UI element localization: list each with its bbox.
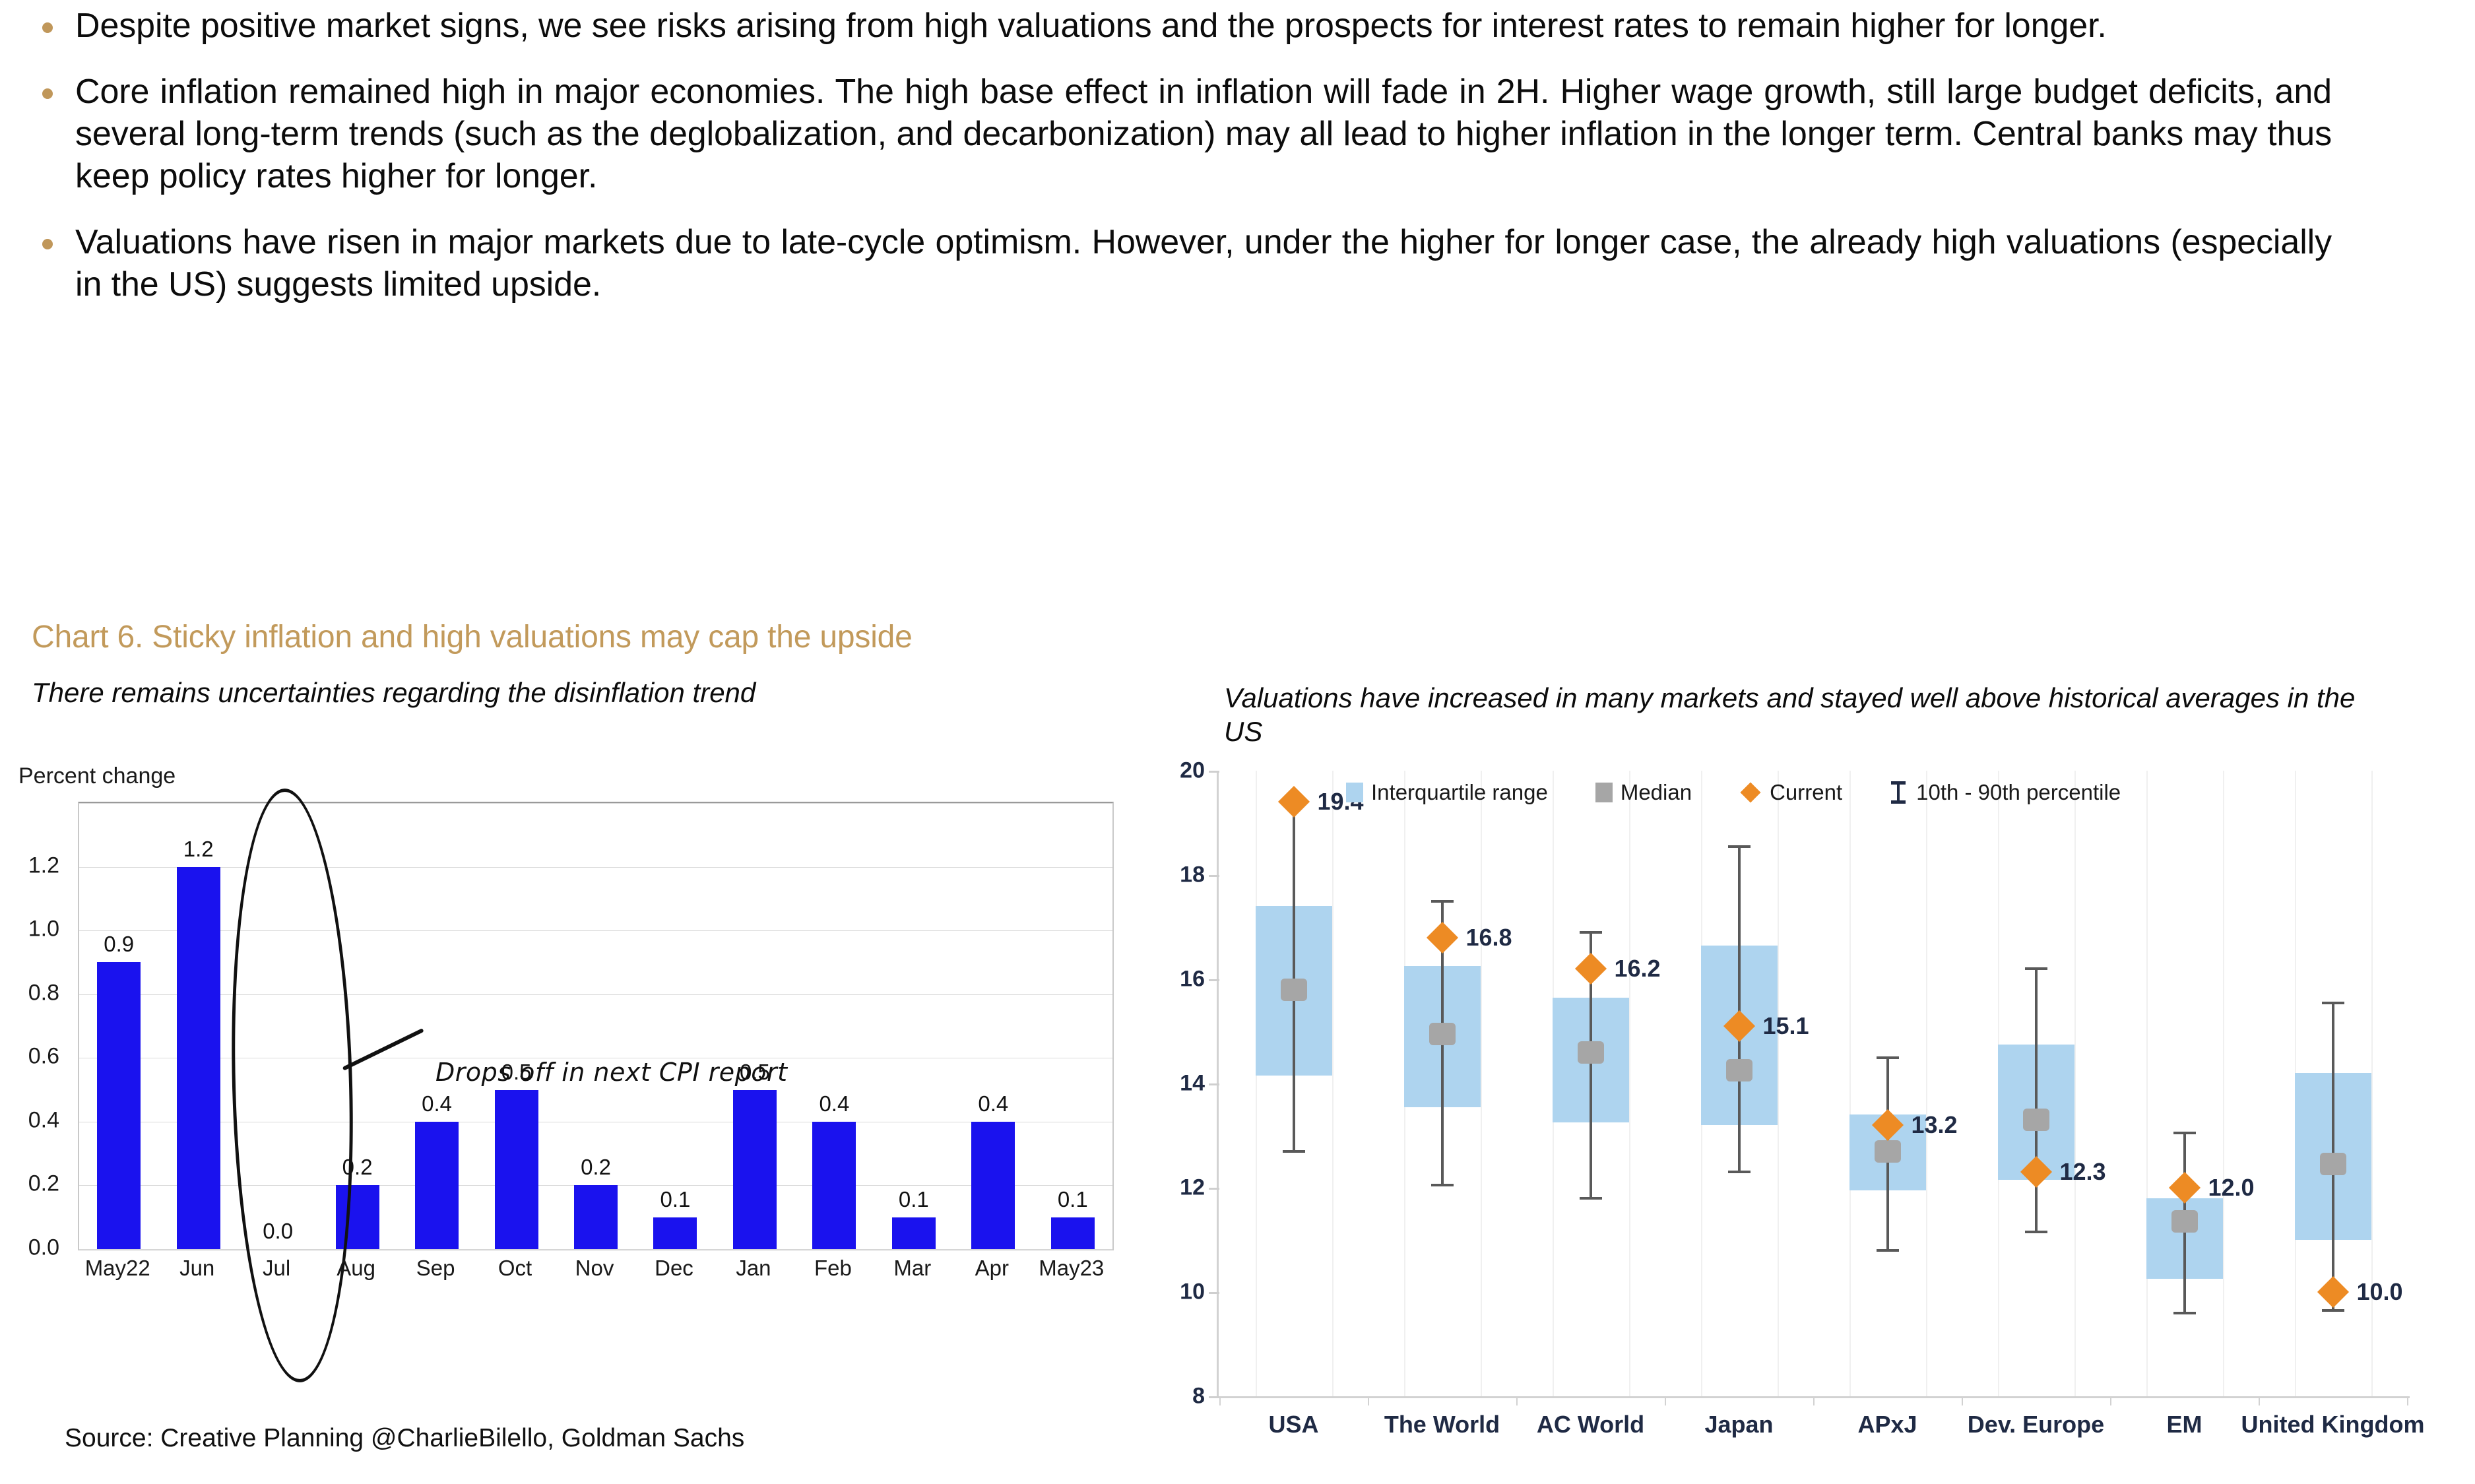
y-axis-tick-mark — [1209, 979, 1219, 981]
bullet-item: Despite positive market signs, we see ri… — [42, 5, 2391, 48]
y-axis-tick-label: 0.2 — [0, 1171, 59, 1197]
x-axis-tick-mark — [1665, 1396, 1666, 1405]
category-separator — [2223, 771, 2224, 1396]
right-chart-subtitle: Valuations have increased in many market… — [1224, 681, 2359, 748]
bullet-dot-icon — [42, 22, 53, 33]
y-axis-tick-mark — [1209, 1396, 1219, 1398]
right-chart-legend: Interquartile range Median Current 10th … — [1346, 780, 2168, 805]
table-row — [574, 1185, 618, 1249]
bar-value-label: 0.1 — [868, 1187, 960, 1212]
table-row — [97, 962, 141, 1249]
current-marker — [1574, 953, 1606, 984]
gridline — [79, 1249, 1112, 1250]
whisker-cap — [1877, 1056, 1899, 1059]
current-value-label: 12.0 — [2208, 1174, 2255, 1202]
valuation-box-chart: 8101214161820 19.416.816.215.113.212.312… — [1148, 765, 2468, 1465]
bullet-item: Valuations have risen in major markets d… — [42, 222, 2391, 306]
whisker-cap — [1728, 845, 1751, 848]
category-separator — [1926, 771, 1927, 1396]
table-row — [733, 1090, 777, 1249]
current-marker — [2317, 1276, 2348, 1308]
table-row — [415, 1122, 459, 1249]
highlight-ellipse-icon — [224, 787, 360, 1384]
percentile-whisker — [1738, 847, 1741, 1173]
iqr-swatch-icon — [1346, 783, 1363, 802]
legend-label: Current — [1770, 780, 1842, 805]
legend-item-percentile: 10th - 90th percentile — [1890, 780, 2121, 805]
bullet-text: Despite positive market signs, we see ri… — [75, 5, 2332, 48]
y-axis-tick-label: 14 — [1148, 1071, 1205, 1097]
category-separator — [2146, 771, 2148, 1396]
y-axis-tick-label: 12 — [1148, 1175, 1205, 1201]
current-value-label: 12.3 — [2060, 1158, 2106, 1186]
x-axis-tick-mark — [1368, 1396, 1369, 1405]
left-chart-subtitle: There remains uncertainties regarding th… — [32, 676, 755, 709]
bullet-item: Core inflation remained high in major ec… — [42, 71, 2391, 198]
whisker-cap — [2173, 1312, 2196, 1314]
current-value-label: 16.8 — [1466, 924, 1512, 952]
x-axis-tick-mark — [1813, 1396, 1815, 1405]
percentile-whisker — [1293, 802, 1295, 1151]
current-value-label: 16.2 — [1615, 955, 1661, 983]
category-separator — [1256, 771, 1257, 1396]
x-axis-tick-label: May23 — [1012, 1256, 1131, 1281]
y-axis-tick-label: 0.8 — [0, 980, 59, 1006]
y-axis-tick-label: 10 — [1148, 1279, 1205, 1305]
legend-item-iqr: Interquartile range — [1346, 780, 1548, 805]
whisker-cap — [1728, 1171, 1751, 1173]
whisker-cap — [2322, 1309, 2344, 1312]
bar-value-label: 0.9 — [73, 932, 165, 957]
whisker-cap — [2025, 967, 2047, 970]
median-marker — [2171, 1210, 2198, 1233]
annotation-leader-line — [342, 1028, 424, 1071]
y-axis-tick-mark — [1209, 1083, 1219, 1085]
y-axis-tick-mark — [1209, 771, 1219, 773]
legend-item-current: Current — [1739, 780, 1842, 805]
source-note: Source: Creative Planning @CharlieBilell… — [65, 1424, 744, 1453]
bullet-dot-icon — [42, 239, 53, 249]
bar-value-label: 0.1 — [1027, 1187, 1119, 1212]
bullet-list: Despite positive market signs, we see ri… — [42, 5, 2391, 330]
y-axis-tick-mark — [1209, 1292, 1219, 1294]
legend-label: Interquartile range — [1371, 780, 1548, 805]
gridline — [79, 867, 1112, 868]
bar-value-label: 0.4 — [788, 1091, 880, 1116]
chart-heading: Chart 6. Sticky inflation and high valua… — [32, 619, 913, 655]
median-swatch-icon — [1595, 783, 1613, 802]
error-bar-icon — [1890, 781, 1907, 804]
category-separator — [1849, 771, 1851, 1396]
whisker-cap — [2322, 1002, 2344, 1004]
bar-value-label: 0.2 — [550, 1155, 642, 1180]
bar-value-label: 1.2 — [152, 837, 245, 862]
x-axis-tick-mark — [2407, 1396, 2408, 1405]
whisker-cap — [1580, 1197, 1602, 1200]
median-marker — [1578, 1041, 1604, 1064]
y-axis-tick-label: 18 — [1148, 862, 1205, 888]
y-axis-tick-label: 1.2 — [0, 853, 59, 878]
median-marker — [1429, 1023, 1456, 1045]
whisker-cap — [1580, 931, 1602, 934]
whisker-cap — [1431, 1184, 1454, 1186]
bar-value-label: 0.4 — [947, 1091, 1039, 1116]
annotation-text: Drops off in next CPI report — [435, 1058, 788, 1087]
x-axis-tick-mark — [2110, 1396, 2111, 1405]
median-marker — [2320, 1153, 2346, 1175]
current-marker — [1426, 922, 1458, 953]
x-axis-tick-mark — [1516, 1396, 1518, 1405]
legend-label: Median — [1621, 780, 1692, 805]
legend-item-median: Median — [1595, 780, 1692, 805]
table-row — [177, 867, 220, 1249]
x-axis-tick-mark — [2259, 1396, 2260, 1405]
whisker-cap — [1431, 900, 1454, 903]
category-separator — [1481, 771, 1482, 1396]
left-chart-ylabel: Percent change — [18, 763, 176, 789]
table-row — [1051, 1217, 1095, 1249]
x-axis-tick-mark — [1219, 1396, 1221, 1405]
current-diamond-icon — [1741, 782, 1761, 802]
current-marker — [1277, 786, 1309, 818]
left-chart-plot: 0.91.20.00.20.40.50.20.10.50.40.10.40.1 … — [78, 802, 1114, 1250]
y-axis-tick-label: 16 — [1148, 967, 1205, 992]
table-row — [653, 1217, 697, 1249]
gridline — [79, 803, 1112, 804]
legend-label: 10th - 90th percentile — [1916, 780, 2121, 805]
bar-value-label: 0.4 — [391, 1091, 483, 1116]
gridline — [79, 930, 1112, 931]
x-axis-tick-mark — [1962, 1396, 1963, 1405]
whisker-cap — [1283, 1150, 1305, 1153]
table-row — [812, 1122, 856, 1249]
y-axis-tick-label: 20 — [1148, 758, 1205, 784]
median-marker — [2023, 1109, 2049, 1131]
percentile-whisker — [2035, 969, 2038, 1232]
bullet-text: Core inflation remained high in major ec… — [75, 71, 2332, 198]
table-row — [971, 1122, 1015, 1249]
y-axis-tick-mark — [1209, 1188, 1219, 1190]
table-row — [892, 1217, 936, 1249]
median-marker — [1281, 979, 1307, 1001]
bar-value-label: 0.1 — [629, 1187, 721, 1212]
y-axis-tick-mark — [1209, 875, 1219, 877]
cpi-bar-chart: Percent change 0.91.20.00.20.40.50.20.10… — [7, 762, 1128, 1356]
median-marker — [1875, 1140, 1901, 1163]
median-marker — [1726, 1059, 1752, 1081]
y-axis-tick-label: 1.0 — [0, 917, 59, 942]
y-axis-tick-label: 0.0 — [0, 1235, 59, 1261]
bullet-text: Valuations have risen in major markets d… — [75, 222, 2332, 306]
table-row — [495, 1090, 538, 1249]
y-axis-tick-label: 8 — [1148, 1384, 1205, 1409]
whisker-cap — [1877, 1249, 1899, 1252]
current-value-label: 10.0 — [2357, 1278, 2403, 1306]
whisker-cap — [2173, 1132, 2196, 1134]
category-separator — [2074, 771, 2076, 1396]
current-value-label: 13.2 — [1912, 1111, 1958, 1139]
whisker-cap — [2025, 1231, 2047, 1233]
y-axis-tick-label: 0.6 — [0, 1044, 59, 1070]
current-value-label: 15.1 — [1763, 1012, 1809, 1040]
category-separator — [1629, 771, 1630, 1396]
category-separator — [1332, 771, 1334, 1396]
category-separator — [1778, 771, 1779, 1396]
y-axis-tick-label: 0.4 — [0, 1107, 59, 1133]
bullet-dot-icon — [42, 88, 53, 99]
x-axis-tick-label: United Kingdom — [2234, 1411, 2432, 1438]
